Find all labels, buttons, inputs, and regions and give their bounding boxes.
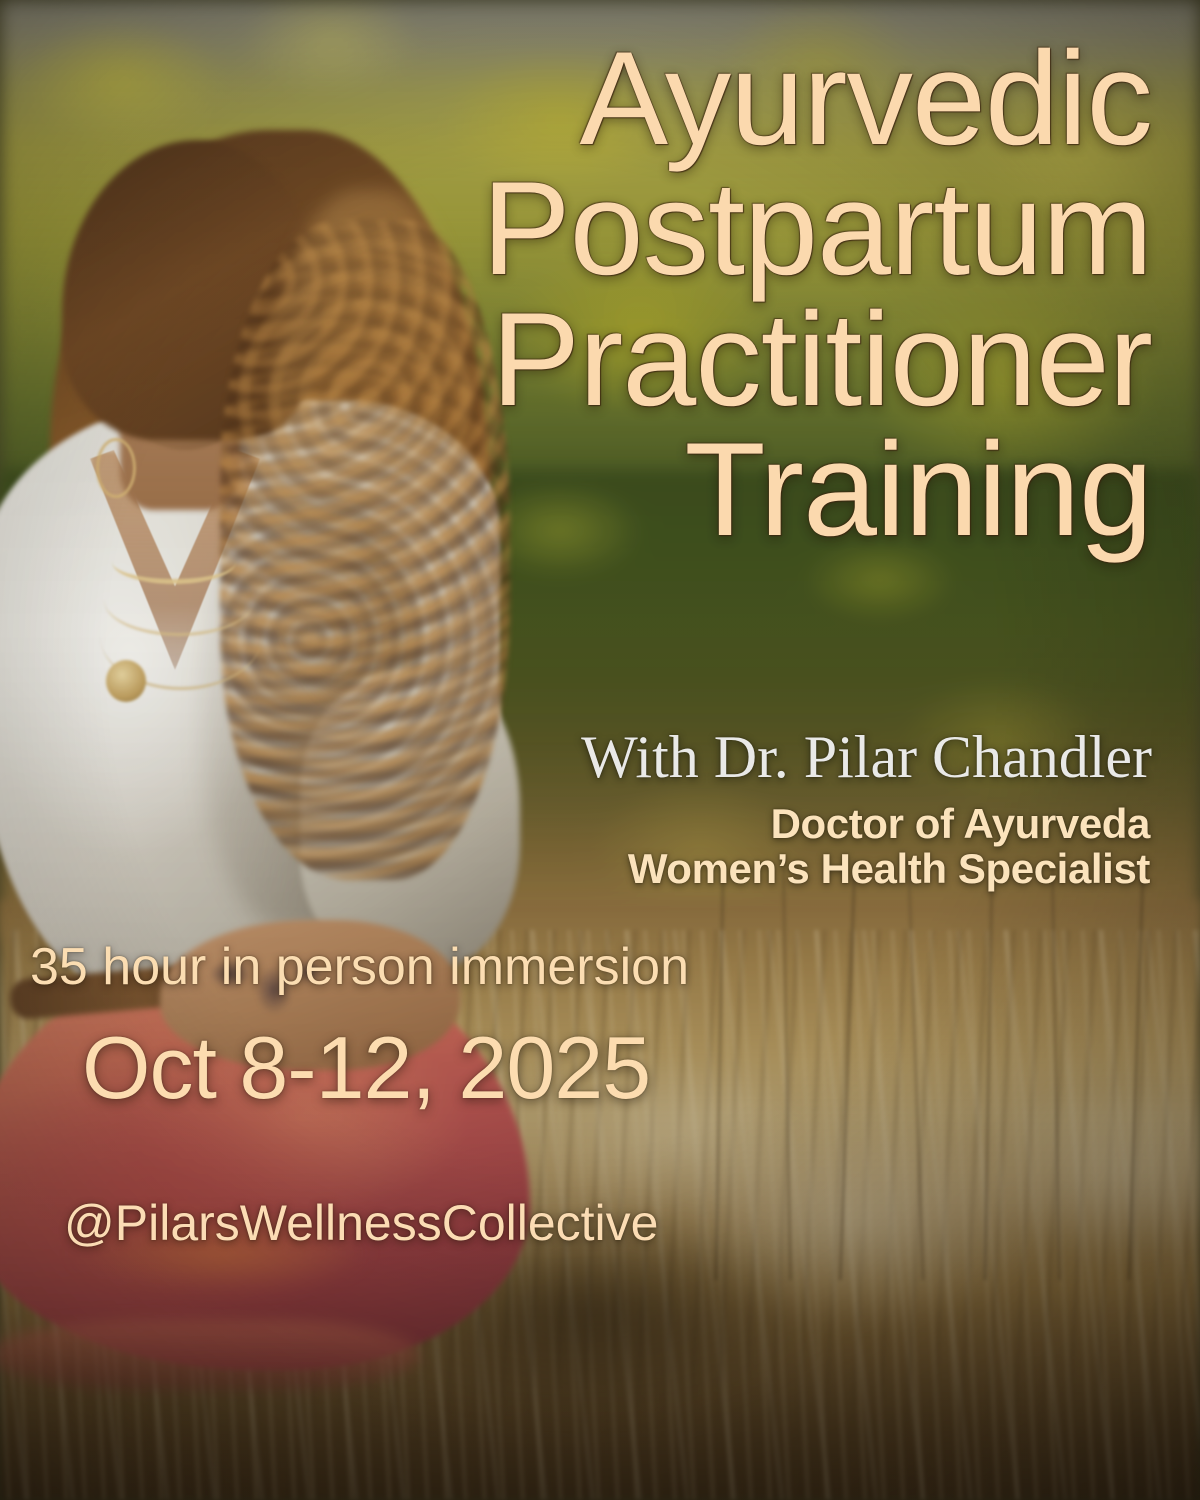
course-duration: 35 hour in person immersion xyxy=(30,941,689,993)
credential-line-1: Doctor of Ayurveda xyxy=(390,802,1150,847)
title-line-2: Postpartum xyxy=(412,164,1152,294)
presenter-name: With Dr. Pilar Chandler xyxy=(392,727,1152,787)
title-line-1: Ayurvedic xyxy=(412,34,1152,164)
social-handle[interactable]: @PilarsWellnessCollective xyxy=(64,1198,658,1248)
course-title: Ayurvedic Postpartum Practitioner Traini… xyxy=(412,34,1152,555)
presenter-credentials: Doctor of Ayurveda Women’s Health Specia… xyxy=(390,802,1150,892)
title-line-3: Practitioner xyxy=(412,295,1152,425)
text-overlay: Ayurvedic Postpartum Practitioner Traini… xyxy=(0,0,1200,1500)
credential-line-2: Women’s Health Specialist xyxy=(390,847,1150,892)
title-line-4: Training xyxy=(412,425,1152,555)
poster-canvas: Ayurvedic Postpartum Practitioner Traini… xyxy=(0,0,1200,1500)
course-dates: Oct 8-12, 2025 xyxy=(82,1024,650,1112)
